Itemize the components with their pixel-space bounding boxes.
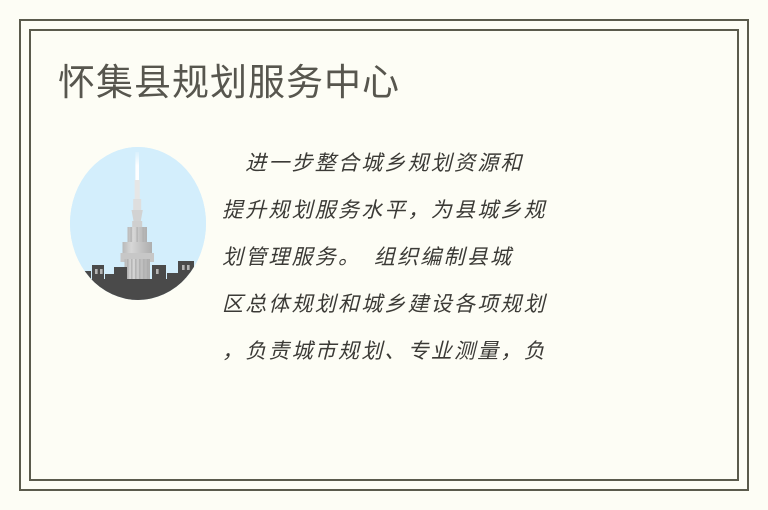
illustration-thumbnail xyxy=(70,147,206,300)
city-skyline-icon xyxy=(70,147,206,300)
page-title: 怀集县规划服务中心 xyxy=(58,62,400,105)
paragraph-line: 进一步整合城乡规划资源和 xyxy=(222,140,712,187)
paragraph-line: 区总体规划和城乡建设各项规划 xyxy=(222,281,712,328)
description-paragraph: 进一步整合城乡规划资源和 提升规划服务水平，为县城乡规 划管理服务。 组织编制县… xyxy=(222,140,712,375)
paragraph-line: ，负责城市规划、专业测量，负 xyxy=(222,328,712,375)
paragraph-line: 划管理服务。 组织编制县城 xyxy=(222,234,712,281)
illustration-circle-mask xyxy=(70,147,206,300)
page-root: 怀集县规划服务中心 xyxy=(0,0,768,510)
content-area: 进一步整合城乡规划资源和 提升规划服务水平，为县城乡规 划管理服务。 组织编制县… xyxy=(52,140,712,420)
paragraph-line: 提升规划服务水平，为县城乡规 xyxy=(222,187,712,234)
